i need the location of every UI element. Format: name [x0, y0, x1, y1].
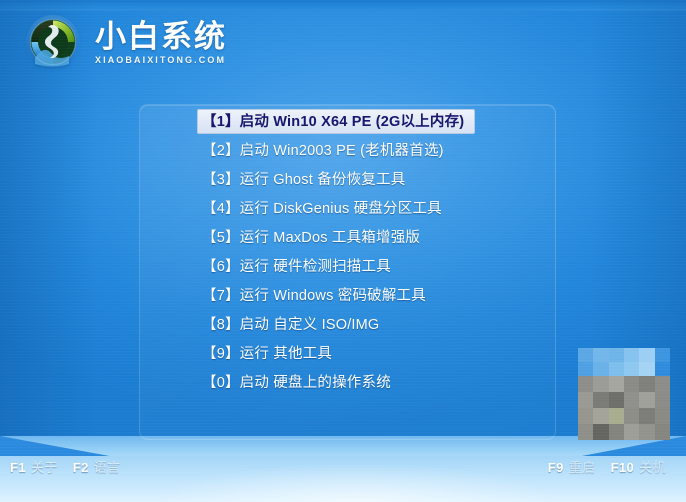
hotkey-f10-key: F10	[611, 460, 635, 475]
refresh-globe-icon	[24, 14, 82, 70]
mosaic-tile	[578, 362, 593, 376]
mosaic-top-tiles	[578, 348, 670, 376]
menu-item-6[interactable]: 【6】运行 硬件检测扫描工具	[139, 255, 554, 276]
mosaic-tile	[655, 392, 670, 408]
mosaic-tile	[609, 348, 624, 362]
boot-menu-list: 【1】启动 Win10 X64 PE (2G以上内存) 【2】启动 Win200…	[139, 110, 554, 400]
mosaic-tile	[655, 376, 670, 392]
mosaic-tile	[639, 392, 654, 408]
mosaic-gray-tiles	[578, 376, 670, 440]
menu-item-3[interactable]: 【3】运行 Ghost 备份恢复工具	[139, 168, 554, 189]
mosaic-tile	[655, 348, 670, 362]
mosaic-tile	[639, 376, 654, 392]
mosaic-tile	[624, 362, 639, 376]
mosaic-tile	[593, 408, 608, 424]
mosaic-tile	[639, 408, 654, 424]
menu-item-label: 【7】运行 Windows 密码破解工具	[202, 284, 426, 305]
mosaic-tile	[578, 424, 593, 440]
mosaic-tile	[609, 424, 624, 440]
menu-item-label: 【0】启动 硬盘上的操作系统	[202, 371, 391, 392]
mosaic-tile	[609, 376, 624, 392]
menu-item-label: 【5】运行 MaxDos 工具箱增强版	[202, 226, 420, 247]
hotkey-f10[interactable]: F10 关机	[611, 457, 666, 476]
hotkey-f1-label: 关于	[31, 457, 58, 476]
menu-item-label: 【1】启动 Win10 X64 PE (2G以上内存)	[202, 110, 464, 131]
mosaic-tile	[578, 376, 593, 392]
mosaic-tile	[593, 362, 608, 376]
brand-name-en: XIAOBAIXITONG.COM	[95, 54, 227, 66]
hotkey-f10-label: 关机	[639, 457, 666, 476]
mosaic-tile	[639, 424, 654, 440]
menu-item-label: 【2】启动 Win2003 PE (老机器首选)	[202, 139, 444, 160]
hotkey-f1-key: F1	[10, 460, 26, 475]
menu-item-2[interactable]: 【2】启动 Win2003 PE (老机器首选)	[139, 139, 554, 160]
mosaic-tile	[609, 408, 624, 424]
mosaic-tile	[578, 392, 593, 408]
menu-item-1[interactable]: 【1】启动 Win10 X64 PE (2G以上内存)	[139, 110, 554, 131]
boot-menu-screen: 小白系统 XIAOBAIXITONG.COM 【1】启动 Win10 X64 P…	[0, 0, 686, 502]
mosaic-tile	[593, 392, 608, 408]
menu-item-label: 【6】运行 硬件检测扫描工具	[202, 255, 391, 276]
menu-item-label: 【3】运行 Ghost 备份恢复工具	[202, 168, 405, 189]
hotkey-f9-label: 重启	[569, 457, 596, 476]
brand-name-cn: 小白系统	[95, 20, 227, 54]
hotkey-f2[interactable]: F2 语言	[73, 457, 121, 476]
mosaic-tile	[624, 376, 639, 392]
brand-text: 小白系统 XIAOBAIXITONG.COM	[95, 18, 227, 66]
mosaic-tile	[593, 424, 608, 440]
mosaic-tile	[624, 424, 639, 440]
mosaic-tile	[639, 362, 654, 376]
mosaic-tile	[593, 376, 608, 392]
mosaic-tile	[655, 362, 670, 376]
brand-logo: 小白系统 XIAOBAIXITONG.COM	[24, 14, 227, 70]
mosaic-tile	[578, 408, 593, 424]
menu-item-5[interactable]: 【5】运行 MaxDos 工具箱增强版	[139, 226, 554, 247]
menu-item-8[interactable]: 【8】启动 自定义 ISO/IMG	[139, 313, 554, 334]
mosaic-tile	[655, 424, 670, 440]
mosaic-tile	[578, 348, 593, 362]
censored-mosaic-block	[578, 348, 670, 440]
menu-item-label: 【4】运行 DiskGenius 硬盘分区工具	[202, 197, 442, 218]
mosaic-tile	[624, 408, 639, 424]
footer-hotkeys-left: F1 关于 F2 语言	[10, 457, 129, 476]
footer-hotkeys-right: F9 重启 F10 关机	[548, 457, 674, 476]
hotkey-f9[interactable]: F9 重启	[548, 457, 596, 476]
menu-item-0[interactable]: 【0】启动 硬盘上的操作系统	[139, 371, 554, 392]
hotkey-f2-label: 语言	[94, 457, 121, 476]
menu-item-9[interactable]: 【9】运行 其他工具	[139, 342, 554, 363]
hotkey-f2-key: F2	[73, 460, 89, 475]
hotkey-f9-key: F9	[548, 460, 564, 475]
mosaic-tile	[639, 348, 654, 362]
mosaic-tile	[593, 348, 608, 362]
mosaic-tile	[624, 392, 639, 408]
mosaic-tile	[624, 348, 639, 362]
mosaic-tile	[609, 392, 624, 408]
menu-item-label: 【8】启动 自定义 ISO/IMG	[202, 313, 379, 334]
mosaic-tile	[609, 362, 624, 376]
hotkey-f1[interactable]: F1 关于	[10, 457, 58, 476]
menu-item-label: 【9】运行 其他工具	[202, 342, 332, 363]
menu-item-4[interactable]: 【4】运行 DiskGenius 硬盘分区工具	[139, 197, 554, 218]
mosaic-tile	[655, 408, 670, 424]
menu-item-7[interactable]: 【7】运行 Windows 密码破解工具	[139, 284, 554, 305]
